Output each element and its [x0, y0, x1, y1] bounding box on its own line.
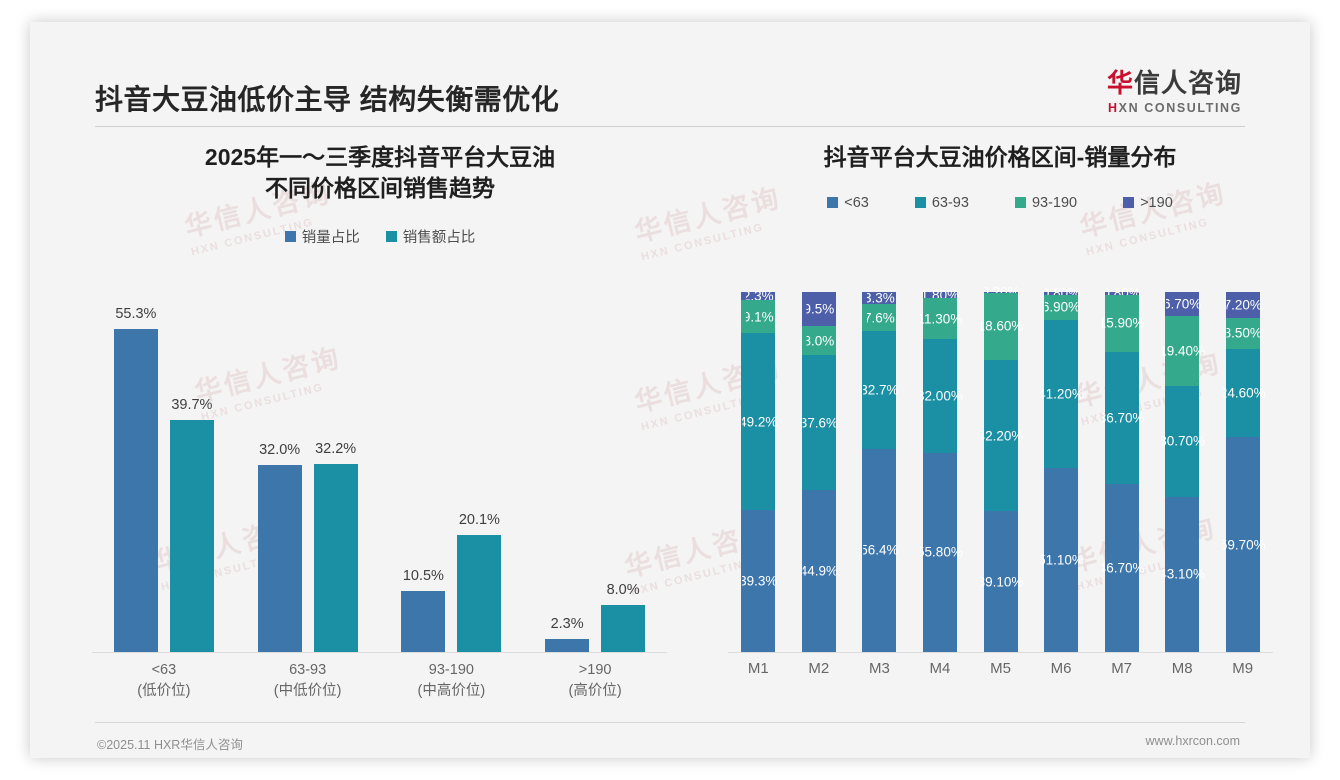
stacked-bar[interactable]: 0.80%6.90%41.20%51.10% [1044, 292, 1078, 652]
segment-value-label: 7.6% [864, 310, 895, 325]
stacked-bar-column: 3.3%7.6%32.7%56.4% [853, 292, 905, 652]
bar[interactable]: 10.5% [401, 591, 445, 652]
stacked-bar-segment[interactable]: 18.60% [984, 293, 1018, 360]
x-axis-tick-sub: (中低价位) [238, 681, 378, 702]
x-axis-tick: M9 [1217, 660, 1269, 677]
legend-swatch-icon [386, 231, 397, 242]
stacked-bar[interactable]: 9.5%8.0%37.6%44.9% [802, 292, 836, 652]
stacked-bar-segment[interactable]: 15.90% [1105, 295, 1139, 352]
x-axis-line [92, 652, 667, 653]
legend-label: 63-93 [932, 195, 969, 211]
legend-swatch-icon [915, 197, 926, 208]
legend-label: <63 [844, 195, 869, 211]
segment-value-label: 51.10% [1038, 553, 1084, 568]
bar-value-label: 20.1% [459, 512, 500, 528]
stacked-bar-segment[interactable]: 2.3% [741, 292, 775, 300]
stacked-bar-segment[interactable]: 7.20% [1226, 292, 1260, 318]
page-title: 抖音大豆油低价主导 结构失衡需优化 [95, 78, 559, 118]
stacked-bar-column: 0.20%18.60%42.20%39.10% [975, 292, 1027, 652]
segment-value-label: 8.0% [803, 333, 834, 348]
footer-copyright: ©2025.11 HXR华信人咨询 [97, 734, 243, 753]
stacked-bar-segment[interactable]: 11.30% [923, 298, 957, 338]
segment-value-label: 49.2% [739, 414, 777, 429]
slide-header: 抖音大豆油低价主导 结构失衡需优化 华信人咨询 HXN CONSULTING [30, 22, 1310, 112]
stacked-bar-column: 9.5%8.0%37.6%44.9% [793, 292, 845, 652]
right-chart-panel: 抖音平台大豆油价格区间-销量分布 <63 63-93 93-190 >190 2… [710, 142, 1290, 722]
x-axis-tick: M8 [1156, 660, 1208, 677]
stacked-bar-segment[interactable]: 39.10% [984, 511, 1018, 652]
stacked-bar-segment[interactable]: 36.70% [1105, 352, 1139, 484]
segment-value-label: 32.00% [917, 388, 963, 403]
stacked-bar-segment[interactable]: 9.5% [802, 292, 836, 326]
bar-rect [170, 420, 214, 652]
segment-value-label: 39.10% [978, 574, 1024, 589]
bar-value-label: 55.3% [115, 306, 156, 322]
grouped-bar-chart: 55.3%39.7%32.0%32.2%10.5%20.1%2.3%8.0% <… [70, 302, 690, 722]
segment-value-label: 7.20% [1224, 298, 1262, 313]
x-axis-tick: <63(低价位) [94, 660, 234, 702]
x-axis-tick: 63-93(中低价位) [238, 660, 378, 702]
bar-group: 55.3%39.7% [105, 302, 223, 652]
segment-value-label: 11.30% [918, 311, 963, 326]
segment-value-label: 43.10% [1159, 567, 1205, 582]
legend-swatch-icon [1123, 197, 1134, 208]
x-axis-tick: M6 [1035, 660, 1087, 677]
stacked-bar-column: 0.80%6.90%41.20%51.10% [1035, 292, 1087, 652]
bar[interactable]: 55.3% [114, 329, 158, 652]
legend-swatch-icon [285, 231, 296, 242]
bar-value-label: 32.2% [315, 441, 356, 457]
stacked-bar-segment[interactable]: 19.40% [1165, 316, 1199, 386]
segment-value-label: 6.70% [1163, 297, 1201, 312]
legend-swatch-icon [1015, 197, 1026, 208]
bar-group: 2.3%8.0% [536, 302, 654, 652]
stacked-bar-segment[interactable]: 9.1% [741, 300, 775, 333]
stacked-bar-segment[interactable]: 56.4% [862, 449, 896, 652]
bar-value-label: 10.5% [403, 568, 444, 584]
segment-value-label: 46.70% [1099, 561, 1145, 576]
x-axis-tick-labels: M1M2M3M4M5M6M7M8M9 [728, 660, 1273, 688]
left-chart-title-line2: 不同价格区间销售趋势 [70, 173, 690, 204]
stacked-bar[interactable]: 6.70%19.40%30.70%43.10% [1165, 292, 1199, 652]
x-axis-tick-main: 93-190 [429, 662, 474, 678]
bar-rect [545, 639, 589, 652]
bar-rect [601, 605, 645, 652]
stacked-bar-segment[interactable]: 7.6% [862, 304, 896, 331]
bar-rect [314, 464, 358, 652]
segment-value-label: 6.90% [1042, 300, 1080, 315]
stacked-bar-segment[interactable]: 43.10% [1165, 497, 1199, 652]
segment-value-label: 19.40% [1159, 344, 1205, 359]
grouped-bar-plot-area: 55.3%39.7%32.0%32.2%10.5%20.1%2.3%8.0% [92, 302, 667, 652]
segment-value-label: 44.9% [800, 564, 838, 579]
x-axis-tick: M7 [1096, 660, 1148, 677]
segment-value-label: 56.4% [860, 543, 898, 558]
x-axis-tick: M5 [975, 660, 1027, 677]
legend-label: 93-190 [1032, 195, 1077, 211]
segment-value-label: 15.90% [1099, 316, 1145, 331]
x-axis-tick-sub: (低价位) [94, 681, 234, 702]
x-axis-tick: >190(高价位) [525, 660, 665, 702]
segment-value-label: 9.1% [743, 309, 774, 324]
legend-item-63-93[interactable]: 63-93 [915, 195, 969, 211]
stacked-bar-plot-area: 2.3%9.1%49.2%39.3%9.5%8.0%37.6%44.9%3.3%… [728, 292, 1273, 652]
bar-rect [258, 465, 302, 652]
legend-label: 销售额占比 [403, 226, 476, 247]
left-chart-title-line1: 2025年一～三季度抖音平台大豆油 [205, 144, 555, 170]
stacked-bar-chart: 2.3%9.1%49.2%39.3%9.5%8.0%37.6%44.9%3.3%… [710, 292, 1290, 722]
legend-item-93-190[interactable]: 93-190 [1015, 195, 1077, 211]
bar-value-label: 39.7% [171, 397, 212, 413]
stacked-bar-column: 0.80%15.90%36.70%46.70% [1096, 292, 1148, 652]
x-axis-tick: M2 [793, 660, 845, 677]
bar-group: 32.0%32.2% [249, 302, 367, 652]
legend-swatch-icon [827, 197, 838, 208]
logo-english-text: HXN CONSULTING [1107, 101, 1242, 115]
stacked-bar[interactable]: 1.80%11.30%32.00%55.80% [923, 292, 957, 652]
bar[interactable]: 32.2% [314, 464, 358, 652]
stacked-bar-segment[interactable]: 30.70% [1165, 386, 1199, 497]
segment-value-label: 8.50% [1224, 326, 1262, 341]
stacked-bar-segment[interactable]: 8.0% [802, 326, 836, 355]
segment-value-label: 30.70% [1159, 434, 1205, 449]
x-axis-tick: M4 [914, 660, 966, 677]
left-chart-legend: 销量占比 销售额占比 [70, 226, 690, 247]
segment-value-label: 37.6% [800, 415, 838, 430]
company-logo: 华信人咨询 HXN CONSULTING [1107, 70, 1242, 115]
logo-text-rest: 信人咨询 [1134, 68, 1242, 98]
x-axis-tick-main: 63-93 [289, 662, 326, 678]
legend-item-sales-amount[interactable]: 销售额占比 [386, 226, 476, 247]
legend-label: 销量占比 [302, 226, 360, 247]
x-axis-tick: M3 [853, 660, 905, 677]
stacked-bar-segment[interactable]: 51.10% [1044, 468, 1078, 652]
stacked-bar-segment[interactable]: 59.70% [1226, 437, 1260, 652]
stacked-bar-segment[interactable]: 32.7% [862, 331, 896, 449]
logo-char-hua: 华 [1107, 68, 1134, 98]
right-chart-legend: <63 63-93 93-190 >190 [710, 195, 1290, 211]
segment-value-label: 9.5% [803, 302, 834, 317]
header-divider [95, 126, 1245, 127]
stacked-bar-column: 6.70%19.40%30.70%43.10% [1156, 292, 1208, 652]
bar[interactable]: 20.1% [457, 535, 501, 652]
x-axis-tick-sub: (中高价位) [381, 681, 521, 702]
footer-website: www.hxrcon.com [1146, 734, 1240, 748]
stacked-bar-segment[interactable]: 24.60% [1226, 349, 1260, 438]
segment-value-label: 42.20% [978, 428, 1024, 443]
bar[interactable]: 8.0% [601, 605, 645, 652]
legend-label: >190 [1140, 195, 1173, 211]
x-axis-tick: 93-190(中高价位) [381, 660, 521, 702]
bar-rect [114, 329, 158, 652]
x-axis-tick-sub: (高价位) [525, 681, 665, 702]
bar[interactable]: 2.3% [545, 639, 589, 652]
segment-value-label: 24.60% [1220, 385, 1266, 400]
segment-value-label: 39.3% [739, 574, 777, 589]
stacked-bar-segment[interactable]: 32.00% [923, 339, 957, 453]
bar-value-label: 32.0% [259, 442, 300, 458]
stacked-bar[interactable]: 0.20%18.60%42.20%39.10% [984, 292, 1018, 652]
stacked-bar-segment[interactable]: 8.50% [1226, 318, 1260, 349]
stacked-bar[interactable]: 7.20%8.50%24.60%59.70% [1226, 292, 1260, 652]
stacked-bar[interactable]: 3.3%7.6%32.7%56.4% [862, 292, 896, 652]
right-chart-title: 抖音平台大豆油价格区间-销量分布 [710, 142, 1290, 173]
left-chart-title: 2025年一～三季度抖音平台大豆油 不同价格区间销售趋势 [70, 142, 690, 204]
stacked-bar-segment[interactable]: 6.90% [1044, 295, 1078, 320]
legend-item-over-190[interactable]: >190 [1123, 195, 1173, 211]
footer-divider [95, 722, 1245, 723]
stacked-bar-segment[interactable]: 55.80% [923, 453, 957, 652]
stacked-bar-segment[interactable]: 37.6% [802, 355, 836, 490]
segment-value-label: 59.70% [1220, 537, 1266, 552]
stacked-bar-segment[interactable]: 39.3% [741, 510, 775, 652]
stacked-bar-column: 1.80%11.30%32.00%55.80% [914, 292, 966, 652]
segment-value-label: 32.7% [860, 383, 898, 398]
bar-group: 10.5%20.1% [392, 302, 510, 652]
bar-value-label: 2.3% [551, 616, 584, 632]
x-axis-tick-main: >190 [579, 662, 612, 678]
left-chart-panel: 2025年一～三季度抖音平台大豆油 不同价格区间销售趋势 销量占比 销售额占比 … [70, 142, 690, 722]
stacked-bar-segment[interactable]: 6.70% [1165, 292, 1199, 316]
stacked-bar-segment[interactable]: 49.2% [741, 333, 775, 510]
segment-value-label: 41.20% [1038, 386, 1084, 401]
stacked-bar[interactable]: 2.3%9.1%49.2%39.3% [741, 292, 775, 652]
segment-value-label: 36.70% [1099, 411, 1145, 426]
bar-rect [401, 591, 445, 652]
bar[interactable]: 32.0% [258, 465, 302, 652]
stacked-bar-column: 7.20%8.50%24.60%59.70% [1217, 292, 1269, 652]
x-axis-line [728, 652, 1273, 653]
x-axis-tick-main: <63 [152, 662, 177, 678]
stacked-bar-segment[interactable]: 3.3% [862, 292, 896, 304]
stacked-bar-segment[interactable]: 41.20% [1044, 320, 1078, 468]
bar-rect [457, 535, 501, 652]
x-axis-tick-labels: <63(低价位)63-93(中低价位)93-190(中高价位)>190(高价位) [92, 660, 667, 720]
legend-item-under-63[interactable]: <63 [827, 195, 869, 211]
segment-value-label: 18.60% [978, 319, 1024, 334]
stacked-bar[interactable]: 0.80%15.90%36.70%46.70% [1105, 292, 1139, 652]
logo-en-initial: H [1108, 101, 1119, 115]
stacked-bar-segment[interactable]: 44.9% [802, 490, 836, 652]
slide-canvas: 华信人咨询HXN CONSULTING 华信人咨询HXN CONSULTING … [30, 22, 1310, 758]
logo-chinese-text: 华信人咨询 [1107, 70, 1242, 96]
legend-item-sales-volume[interactable]: 销量占比 [285, 226, 360, 247]
logo-en-rest: XN CONSULTING [1119, 101, 1242, 115]
x-axis-tick: M1 [732, 660, 784, 677]
stacked-bar-column: 2.3%9.1%49.2%39.3% [732, 292, 784, 652]
bar-value-label: 8.0% [607, 582, 640, 598]
segment-value-label: 55.80% [917, 545, 963, 560]
stacked-bar-segment[interactable]: 46.70% [1105, 484, 1139, 652]
stacked-bar-segment[interactable]: 42.20% [984, 360, 1018, 512]
bar[interactable]: 39.7% [170, 420, 214, 652]
